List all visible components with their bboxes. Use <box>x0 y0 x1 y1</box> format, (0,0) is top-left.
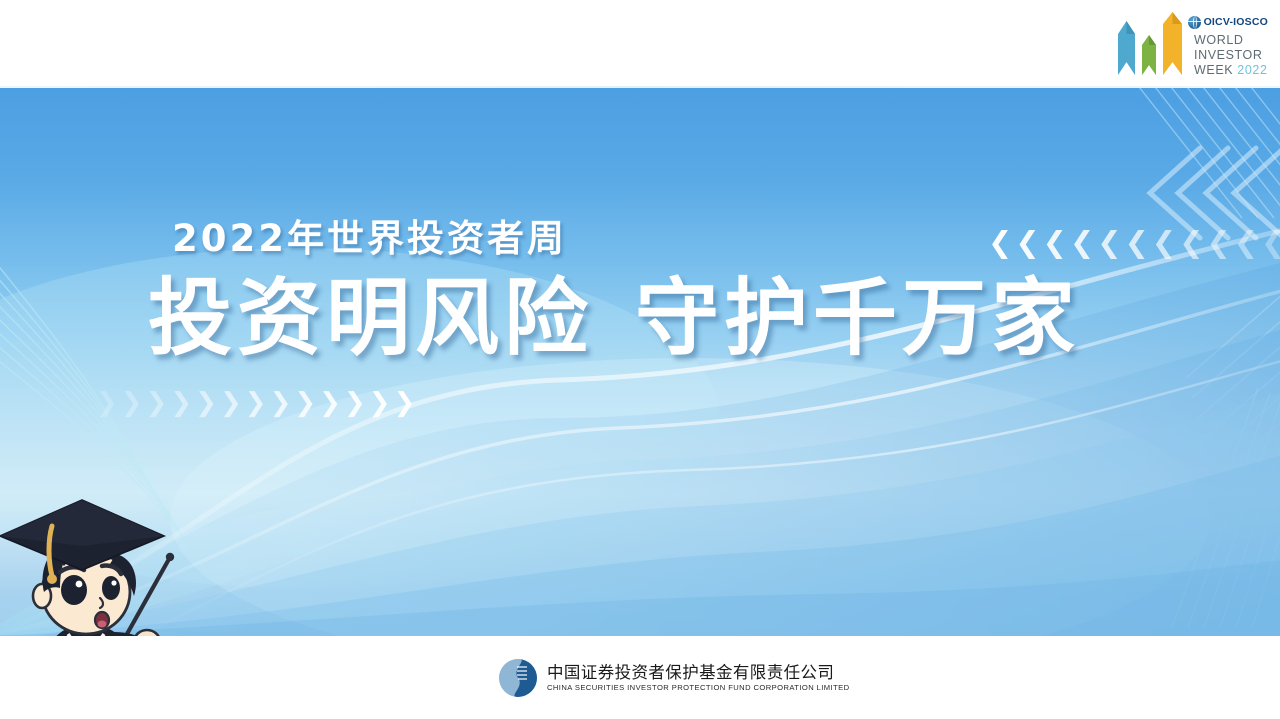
wiw-line-world: WORLD <box>1194 33 1270 48</box>
globe-icon <box>1188 16 1201 29</box>
organization-logo: 中国证券投资者保护基金有限责任公司 CHINA SECURITIES INVES… <box>498 658 850 698</box>
poster-subtitle: 2022年世界投资者周 <box>172 208 567 262</box>
poster-canvas: OICV-IOSCO WORLD INVESTOR WEEK 2022 <box>0 0 1280 719</box>
organization-name: 中国证券投资者保护基金有限责任公司 CHINA SECURITIES INVES… <box>547 663 850 693</box>
poster-headline: 投资明风险守护千万家 <box>148 276 1080 360</box>
headline-part-2: 守护千万家 <box>635 269 1080 367</box>
header-band <box>0 0 1280 88</box>
wiw-line-investor: INVESTOR <box>1194 48 1270 63</box>
wiw-line-week: WEEK 2022 <box>1194 63 1270 78</box>
eye-right <box>102 576 120 600</box>
org-name-cn: 中国证券投资者保护基金有限责任公司 <box>547 663 850 682</box>
header-divider <box>0 86 1280 88</box>
world-investor-week-logo: OICV-IOSCO WORLD INVESTOR WEEK 2022 <box>1102 6 1270 84</box>
wiw-year: 2022 <box>1237 63 1267 77</box>
iosco-label: OICV-IOSCO <box>1204 17 1268 28</box>
org-name-en: CHINA SECURITIES INVESTOR PROTECTION FUN… <box>547 683 850 693</box>
wiw-wordmark: WORLD INVESTOR WEEK 2022 <box>1194 33 1270 78</box>
three-pencils-icon <box>1104 12 1196 80</box>
iosco-logo: OICV-IOSCO <box>1188 14 1268 30</box>
wiw-week-label: WEEK <box>1194 63 1233 77</box>
cspf-yin-yang-icon <box>498 658 538 698</box>
eye-left <box>61 575 87 605</box>
footer-band: 中国证券投资者保护基金有限责任公司 CHINA SECURITIES INVES… <box>0 636 1280 719</box>
headline-part-1: 投资明风险 <box>148 269 593 367</box>
